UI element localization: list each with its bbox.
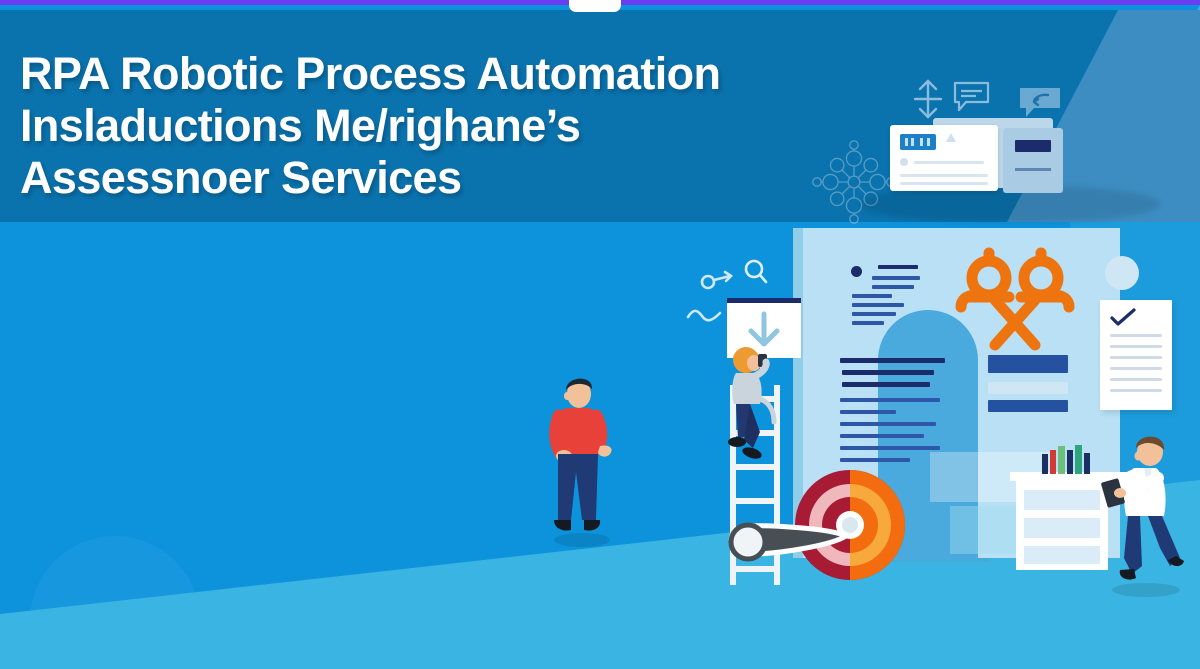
slide-canvas: RPA Robotic Process Automation Insladuct…	[0, 0, 1200, 669]
panel-text-line	[852, 294, 892, 298]
doc-text-line	[1110, 356, 1162, 359]
page-title: RPA Robotic Process Automation Insladuct…	[20, 48, 900, 204]
book-shelf-books	[1040, 444, 1100, 474]
up-down-arrow-icon	[910, 78, 946, 120]
panel-text-line	[840, 358, 945, 363]
gauge-needle	[718, 512, 858, 576]
card-line	[1015, 168, 1051, 171]
header-card-front	[890, 125, 998, 191]
card-text-line	[914, 161, 984, 164]
panel-box	[988, 382, 1068, 394]
panel-text-line	[852, 321, 884, 325]
panel-text-line	[840, 458, 910, 462]
doc-text-line	[1110, 334, 1162, 337]
person-on-ladder	[722, 340, 794, 475]
doc-text-line	[1110, 378, 1162, 381]
window-notch	[569, 0, 621, 12]
chat-bubble-icon	[952, 80, 998, 116]
title-line-3: Assessnoer Services	[20, 152, 900, 204]
panel-text-line	[842, 382, 930, 387]
panel-text-line	[852, 312, 896, 316]
panel-text-line	[840, 422, 936, 426]
panel-text-line	[840, 434, 924, 438]
panel-text-line	[842, 370, 934, 375]
wave-icon	[686, 308, 722, 322]
panel-text-line	[872, 285, 914, 289]
panel-box	[988, 355, 1068, 373]
panel-text-line	[840, 446, 940, 450]
panel-text-line	[852, 303, 904, 307]
bolt-icon	[946, 133, 956, 142]
check-icon	[1110, 308, 1136, 328]
circle-badge	[1105, 256, 1139, 290]
doc-text-line	[1110, 367, 1162, 370]
checklist-document	[1100, 300, 1172, 410]
header-card-mid	[1003, 128, 1063, 193]
panel-text-line	[878, 265, 918, 269]
card-chip	[900, 134, 936, 150]
person-standing-red-shirt	[540, 372, 620, 557]
card-text-line	[900, 182, 988, 185]
title-line-1: RPA Robotic Process Automation	[20, 48, 900, 100]
panel-text-line	[840, 410, 896, 414]
panel-box	[988, 400, 1068, 412]
panel-text-line	[840, 398, 940, 402]
chat-reply-icon	[1018, 86, 1062, 122]
magnifier-icon	[742, 258, 768, 286]
card-text-line	[900, 174, 988, 177]
card-bullet	[900, 158, 908, 166]
arrow-icon	[700, 268, 734, 292]
card-title-bar	[1015, 140, 1051, 152]
person-walking-tablet	[1098, 430, 1190, 600]
doc-text-line	[1110, 345, 1162, 348]
orange-people-icon	[955, 245, 1075, 355]
title-line-2: Inslaductions Me/righane’s	[20, 100, 900, 152]
panel-bullet	[851, 266, 862, 277]
panel-text-line	[872, 276, 920, 280]
doc-text-line	[1110, 389, 1162, 392]
